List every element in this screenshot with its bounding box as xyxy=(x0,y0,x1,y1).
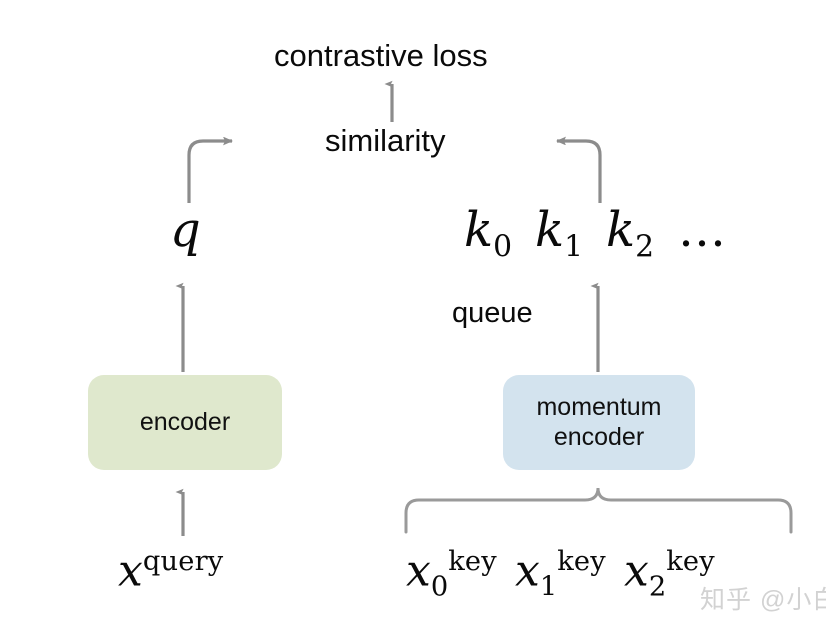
momentum-encoder-line2: encoder xyxy=(554,423,644,451)
x-symbol-query: x xyxy=(118,546,143,597)
encoder-box[interactable]: encoder xyxy=(88,375,282,470)
contrastive-loss-label: contrastive loss xyxy=(274,40,488,71)
x-symbol-key-2: x xyxy=(624,546,649,597)
diagram-canvas: contrastive loss similarity q k0 k1 k2 …… xyxy=(0,0,826,634)
x-key-subscript-1: 1 xyxy=(540,571,557,602)
momentum-encoder-line1: momentum xyxy=(536,393,661,421)
similarity-label: similarity xyxy=(325,125,446,156)
key-symbol-1: k xyxy=(535,202,564,258)
arrow-q-to-similarity xyxy=(189,141,232,203)
arrow-keys-to-similarity xyxy=(557,141,600,203)
x-key-0-label: x0key xyxy=(406,548,497,601)
key-subscript-1: 1 xyxy=(564,230,583,265)
x-query-label: xquery xyxy=(118,548,223,594)
key-subscript-2: 2 xyxy=(635,230,654,265)
key-vector-ellipsis: … xyxy=(678,206,728,254)
x-key-subscript-2: 2 xyxy=(649,571,666,602)
x-key-subscript-0: 0 xyxy=(431,571,448,602)
query-vector-label: q xyxy=(170,206,201,254)
x-query-superscript: query xyxy=(143,546,224,577)
x-key-1-label: x1key xyxy=(515,548,606,601)
momentum-encoder-box[interactable]: momentum encoder xyxy=(503,375,695,470)
x-key-superscript-2: key xyxy=(666,546,715,577)
key-vector-2: k2 xyxy=(606,206,654,262)
x-symbol-key-0: x xyxy=(406,546,431,597)
momentum-encoder-box-label: momentum encoder xyxy=(536,393,661,452)
key-vector-0: k0 xyxy=(464,206,512,262)
queue-label: queue xyxy=(452,299,533,328)
watermark: 知乎 @小白 xyxy=(700,580,826,616)
key-subscript-0: 0 xyxy=(493,230,512,265)
key-symbol-2: k xyxy=(606,202,635,258)
x-key-superscript-0: key xyxy=(448,546,497,577)
x-symbol-key-1: x xyxy=(515,546,540,597)
encoder-box-label: encoder xyxy=(140,408,230,438)
key-symbol-0: k xyxy=(464,202,493,258)
brace-xkeys xyxy=(406,488,791,532)
connectors-layer xyxy=(0,0,826,634)
x-key-superscript-1: key xyxy=(557,546,606,577)
key-vector-1: k1 xyxy=(535,206,583,262)
